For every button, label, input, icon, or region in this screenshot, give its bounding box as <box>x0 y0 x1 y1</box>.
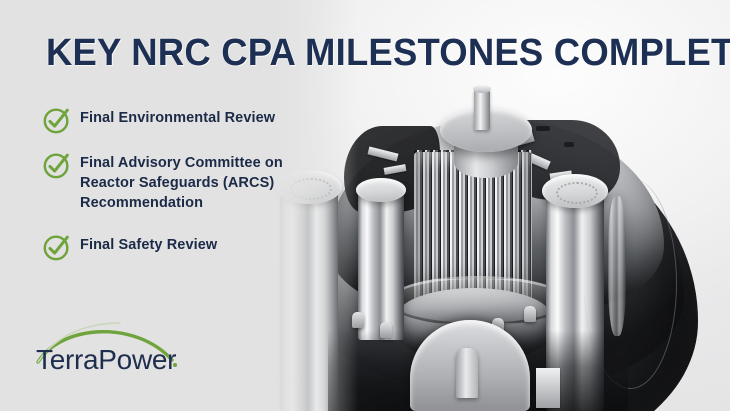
list-item-label: Final Advisory Committee on Reactor Safe… <box>80 149 292 213</box>
terrapower-logo: TerraPower <box>32 318 202 380</box>
presentation-slide: KEY NRC CPA MILESTONES COMPLETE Final En… <box>0 0 730 411</box>
list-item-label: Final Environmental Review <box>80 104 275 128</box>
green-check-circle-icon <box>42 105 72 135</box>
front-disc-lug <box>456 348 478 398</box>
milestone-list: Final Environmental Review Final Advisor… <box>42 104 292 276</box>
list-item: Final Safety Review <box>42 231 292 262</box>
page-title: KEY NRC CPA MILESTONES COMPLETE <box>46 30 730 76</box>
green-check-circle-icon <box>42 232 72 262</box>
list-item: Final Advisory Committee on Reactor Safe… <box>42 149 292 213</box>
lower-block <box>536 368 560 408</box>
list-item: Final Environmental Review <box>42 104 292 135</box>
bolt-lug <box>524 306 536 322</box>
bolt-lug <box>380 322 392 338</box>
list-item-label: Final Safety Review <box>80 231 217 255</box>
green-check-circle-icon <box>42 150 72 180</box>
terrapower-wordmark: TerraPower <box>36 344 176 376</box>
